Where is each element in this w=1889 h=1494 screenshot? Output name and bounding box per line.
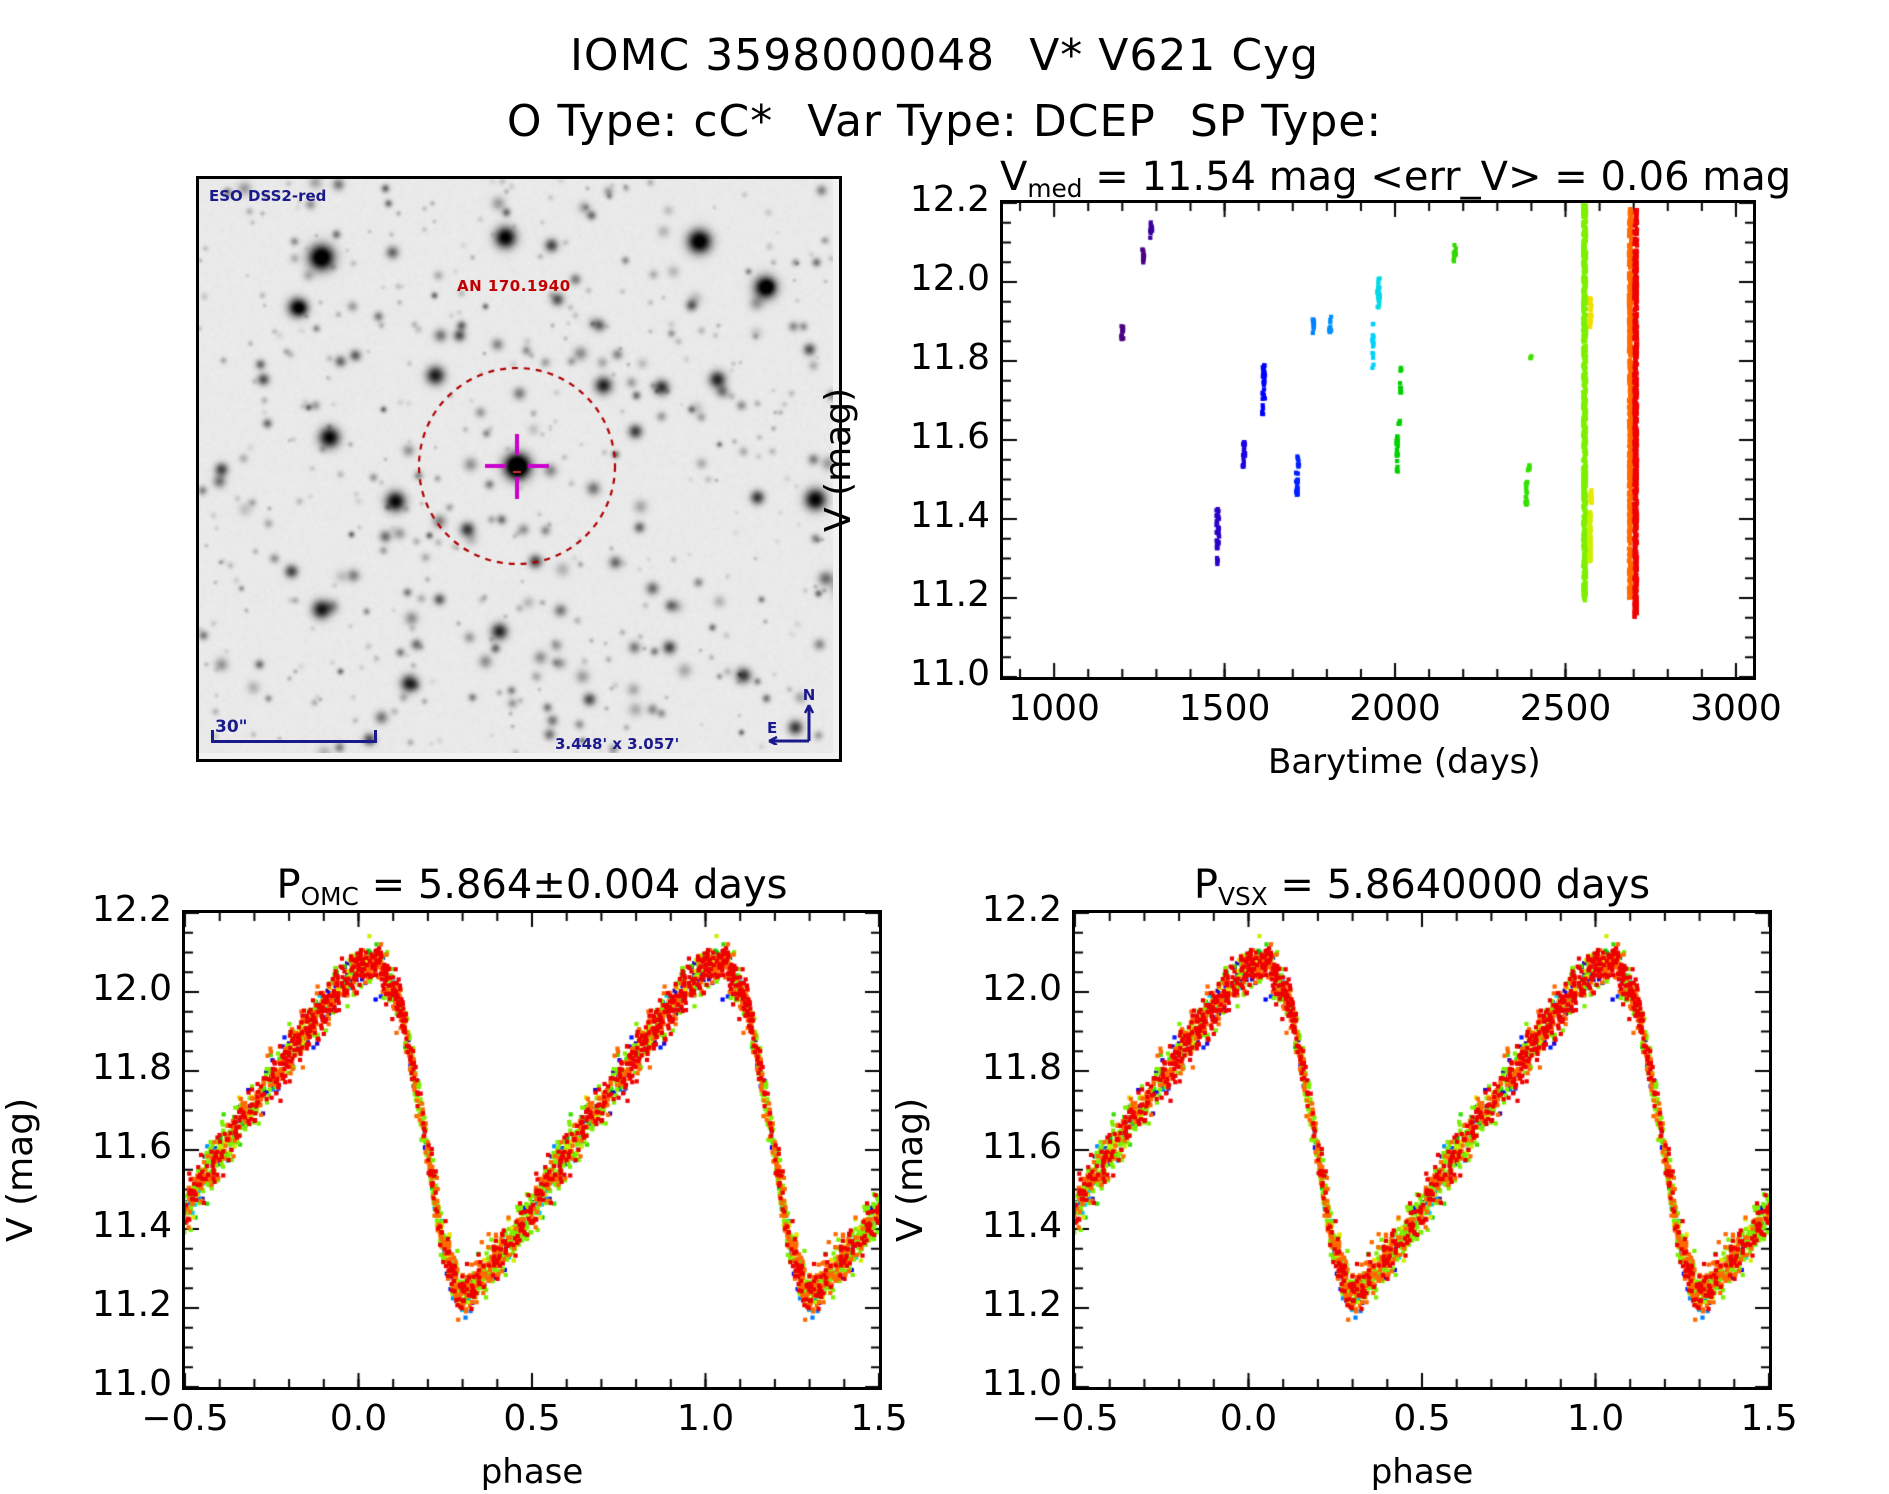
light-curve-panel: Vmed = 11.54 mag <err_V> = 0.06 mag V (m…	[880, 150, 1880, 710]
light-curve-x-axis-title: Barytime (days)	[1268, 742, 1488, 782]
vmed-symbol: V	[1000, 154, 1027, 200]
y-tick-label: 12.2	[850, 179, 990, 220]
pvsx-unit: days	[1556, 862, 1650, 908]
x-tick-label: 1.0	[636, 1398, 776, 1439]
catalog-id: IOMC 3598000048	[570, 30, 995, 81]
y-tick-label: 12.0	[922, 968, 1062, 1009]
otype-label: O Type:	[507, 96, 679, 147]
phase-vsx-plot-area	[1072, 910, 1772, 1390]
phase-vsx-canvas	[1075, 913, 1769, 1387]
survey-label: ESO DSS2-red	[209, 187, 326, 205]
x-tick-label: 0.5	[462, 1398, 602, 1439]
x-tick-label: 1000	[984, 688, 1124, 729]
pomc-symbol: P	[277, 862, 301, 908]
pomc-value: 5.864±0.004	[418, 862, 681, 908]
y-tick-label: 11.2	[32, 1284, 172, 1325]
page-title: IOMC 3598000048V* V621 Cyg	[0, 30, 1889, 81]
vartype-label: Var Type:	[807, 96, 1018, 147]
errv-value: 0.06	[1600, 154, 1689, 200]
vartype-value: DCEP	[1033, 96, 1156, 147]
phase-omc-canvas	[185, 913, 879, 1387]
light-curve-canvas	[1003, 203, 1753, 677]
x-tick-label: 1.0	[1526, 1398, 1666, 1439]
y-tick-label: 12.2	[32, 889, 172, 930]
y-tick-label: 11.8	[32, 1047, 172, 1088]
y-tick-label: 11.8	[850, 337, 990, 378]
y-tick-label: 11.8	[922, 1047, 1062, 1088]
phase-omc-title: POMC = 5.864±0.004 days	[182, 862, 882, 911]
compass-rose-icon: N E	[765, 685, 829, 745]
x-tick-label: 0.0	[1179, 1398, 1319, 1439]
y-tick-label: 12.2	[922, 889, 1062, 930]
pvsx-symbol: P	[1194, 862, 1218, 908]
errv-symbol: <err_V>	[1370, 154, 1541, 200]
object-designation-label: AN 170.1940	[457, 277, 571, 295]
vmed-value: 11.54	[1141, 154, 1256, 200]
phase-vsx-x-axis-title: phase	[1312, 1452, 1532, 1492]
y-tick-label: 11.4	[922, 1205, 1062, 1246]
svg-text:E: E	[767, 719, 777, 737]
dss-image-canvas	[199, 179, 833, 753]
y-tick-label: 11.4	[850, 495, 990, 536]
field-of-view-label: 3.448' x 3.057'	[555, 735, 679, 753]
y-tick-label: 11.2	[922, 1284, 1062, 1325]
x-tick-label: 3000	[1666, 688, 1806, 729]
x-tick-label: 0.5	[1352, 1398, 1492, 1439]
y-tick-label: 11.0	[32, 1363, 172, 1404]
star-name: V* V621 Cyg	[1029, 30, 1319, 81]
classification-line: O Type: cC*Var Type: DCEPSP Type:	[0, 96, 1889, 147]
y-tick-label: 11.2	[850, 574, 990, 615]
phase-omc-x-axis-title: phase	[422, 1452, 642, 1492]
phase-omc-plot-area	[182, 910, 882, 1390]
pvsx-subscript: VSX	[1218, 882, 1268, 911]
sptype-label: SP Type:	[1190, 96, 1382, 147]
otype-value: cC*	[693, 96, 773, 147]
x-tick-label: −0.5	[1005, 1398, 1145, 1439]
errv-unit: mag	[1702, 154, 1791, 200]
y-tick-label: 11.0	[922, 1363, 1062, 1404]
y-tick-label: 11.6	[32, 1126, 172, 1167]
x-tick-label: 1.5	[1699, 1398, 1839, 1439]
pvsx-value: 5.8640000	[1327, 862, 1543, 908]
pomc-subscript: OMC	[301, 882, 359, 911]
x-tick-label: 2500	[1496, 688, 1636, 729]
x-tick-label: 1.5	[809, 1398, 949, 1439]
vmed-unit: mag	[1269, 154, 1358, 200]
svg-text:N: N	[803, 686, 816, 704]
scale-bar-label: 30"	[215, 717, 248, 737]
y-tick-label: 11.6	[850, 416, 990, 457]
light-curve-title: Vmed = 11.54 mag <err_V> = 0.06 mag	[1000, 154, 1756, 203]
vmed-subscript: med	[1027, 174, 1082, 203]
phase-omc-panel: POMC = 5.864±0.004 days V (mag) phase −0…	[60, 860, 960, 1480]
x-tick-label: 0.0	[289, 1398, 429, 1439]
y-tick-label: 12.0	[32, 968, 172, 1009]
light-curve-plot-area	[1000, 200, 1756, 680]
phase-vsx-title: PVSX = 5.8640000 days	[1072, 862, 1772, 911]
y-tick-label: 11.0	[850, 653, 990, 694]
x-tick-label: −0.5	[115, 1398, 255, 1439]
y-tick-label: 11.4	[32, 1205, 172, 1246]
pomc-unit: days	[693, 862, 787, 908]
sky-finder-chart: ESO DSS2-red 3.448' x 3.057' 30" AN 170.…	[196, 176, 842, 762]
phase-vsx-panel: PVSX = 5.8640000 days V (mag) phase −0.5…	[950, 860, 1850, 1480]
x-tick-label: 1500	[1155, 688, 1295, 729]
y-tick-label: 11.6	[922, 1126, 1062, 1167]
y-tick-label: 12.0	[850, 258, 990, 299]
x-tick-label: 2000	[1325, 688, 1465, 729]
